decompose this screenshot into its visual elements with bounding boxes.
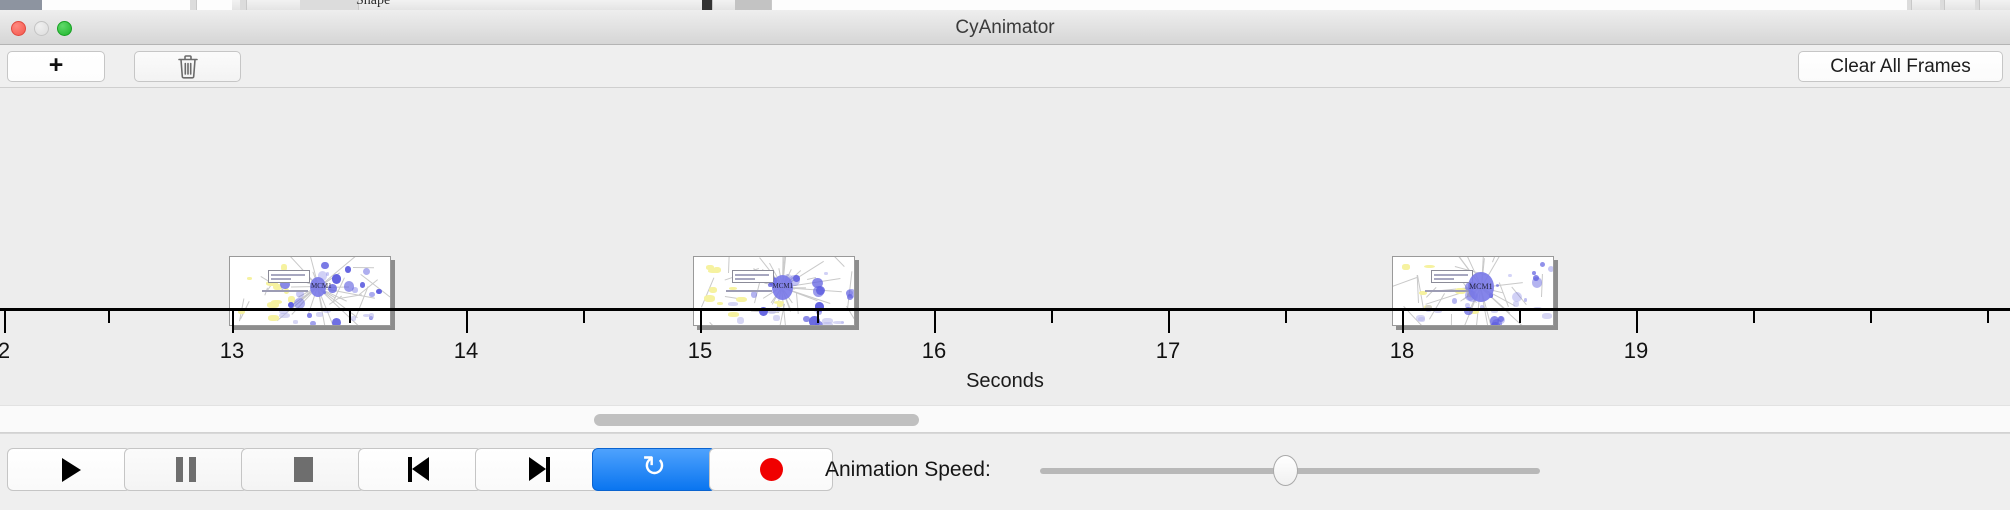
ruler-tick-minor (1870, 311, 1872, 323)
ruler-tick-label: 18 (1390, 338, 1414, 364)
frame-annotation-text (726, 290, 772, 292)
ruler-tick-minor (1051, 311, 1053, 323)
plus-icon: + (49, 53, 64, 78)
ruler-tick-label: 17 (1156, 338, 1180, 364)
network-edge (728, 256, 730, 273)
background-divider-b (240, 0, 247, 10)
timeline-scrollbar-thumb[interactable] (594, 414, 919, 426)
network-node (321, 262, 329, 270)
animation-speed-slider-knob[interactable] (1273, 455, 1298, 486)
ruler-tick-major (1402, 311, 1404, 333)
background-cell-b (735, 0, 772, 10)
network-node (360, 282, 366, 288)
frame-annotation-box (732, 270, 774, 283)
network-node (247, 277, 252, 280)
network-edge (831, 256, 844, 267)
ruler-tick-minor (817, 311, 819, 323)
ruler-tick-label: 14 (454, 338, 478, 364)
ruler-tick-major (700, 311, 702, 333)
ruler-axis-line (0, 308, 2010, 311)
network-node (352, 287, 357, 292)
network-node (704, 295, 715, 302)
frame-toolbar: + Clear All Frames (0, 45, 2010, 88)
network-node (1513, 301, 1520, 307)
ruler-axis-title: Seconds (0, 370, 2010, 393)
background-window-strip: Shape (0, 0, 2010, 10)
network-node (1496, 284, 1499, 287)
trash-icon (177, 54, 199, 79)
network-edge (1392, 277, 1417, 289)
network-node (736, 297, 746, 303)
background-marker (702, 0, 713, 10)
network-node (1548, 266, 1554, 272)
ruler-tick-minor (583, 311, 585, 323)
network-edge (1426, 287, 1437, 298)
ruler-tick-label: 2 (0, 338, 10, 364)
background-panel-b (772, 0, 1907, 10)
network-node (824, 272, 828, 276)
network-node (1452, 298, 1458, 304)
record-button[interactable] (709, 448, 833, 491)
network-node (376, 289, 381, 294)
network-node (706, 265, 714, 270)
ruler-tick-major (4, 311, 6, 333)
network-edge (701, 278, 715, 308)
network-hub-label: MCM1 (773, 282, 794, 290)
ruler-tick-label: 13 (220, 338, 244, 364)
network-node (332, 274, 341, 283)
network-node (846, 290, 853, 297)
stop-button[interactable] (241, 448, 365, 491)
network-node (345, 266, 351, 272)
network-node (709, 287, 717, 293)
network-node (1424, 265, 1435, 269)
background-divider-e (1975, 0, 1980, 10)
skip-forward-icon (525, 457, 550, 482)
background-divider-c (1907, 0, 1912, 10)
loop-icon: ↻ (642, 453, 666, 482)
delete-frame-button[interactable] (134, 51, 241, 82)
network-hub-label: MCM1 (1469, 282, 1493, 291)
frame-annotation-text (1425, 290, 1471, 292)
animation-speed-label: Animation Speed: (825, 458, 991, 482)
background-divider-a (190, 0, 197, 10)
network-edge (1541, 274, 1543, 297)
network-node (1402, 264, 1409, 270)
network-node (294, 298, 305, 309)
frame-annotation-box (268, 270, 310, 283)
ruler-tick-major (232, 311, 234, 333)
background-divider-d (1940, 0, 1945, 10)
next-frame-button[interactable] (475, 448, 599, 491)
frame-annotation-text (262, 290, 308, 292)
network-node (1524, 298, 1527, 301)
skip-back-icon (408, 457, 433, 482)
timeline-panel[interactable]: MCM1MCM1MCM1 Seconds 213141516171819 (0, 88, 2010, 405)
frame-strip[interactable]: MCM1MCM1MCM1 (0, 88, 2010, 308)
ruler-tick-label: 15 (688, 338, 712, 364)
network-node (751, 291, 757, 297)
pause-icon (176, 457, 196, 482)
timeline-scrollbar[interactable] (0, 405, 2010, 433)
title-bar: CyAnimator (0, 10, 2010, 45)
network-node (1540, 262, 1545, 267)
add-frame-button[interactable]: + (7, 51, 105, 82)
network-hub-label: MCM1 (311, 282, 332, 290)
ruler-tick-major (934, 311, 936, 333)
window-title: CyAnimator (0, 10, 2010, 45)
record-icon (760, 458, 783, 481)
network-node (713, 267, 722, 273)
previous-frame-button[interactable] (358, 448, 482, 491)
playback-bar: ↻ Animation Speed: (0, 433, 2010, 510)
cyanimator-window: Shape CyAnimator + Clear All Frames (0, 0, 2010, 510)
time-ruler: Seconds 213141516171819 (0, 308, 2010, 405)
background-toolbar-chip (0, 0, 42, 10)
ruler-tick-label: 19 (1624, 338, 1648, 364)
clear-all-frames-label: Clear All Frames (1830, 56, 1970, 78)
ruler-tick-minor (1753, 311, 1755, 323)
network-node (717, 302, 723, 305)
background-panel-a (42, 0, 232, 10)
ruler-tick-label: 16 (922, 338, 946, 364)
pause-button[interactable] (124, 448, 248, 491)
ruler-tick-minor (108, 311, 110, 323)
clear-all-frames-button[interactable]: Clear All Frames (1798, 51, 2003, 82)
background-cell-a (300, 0, 359, 10)
play-button[interactable] (7, 448, 131, 491)
loop-button[interactable]: ↻ (592, 448, 716, 491)
animation-speed-slider[interactable] (1040, 468, 1540, 474)
ruler-tick-major (1636, 311, 1638, 333)
network-node (363, 268, 370, 275)
stop-icon (294, 457, 313, 482)
ruler-tick-major (1168, 311, 1170, 333)
ruler-tick-minor (1285, 311, 1287, 323)
ruler-tick-minor (349, 311, 351, 323)
network-node (1508, 274, 1511, 277)
network-node (728, 302, 738, 306)
background-window-label: Shape (356, 0, 390, 9)
ruler-tick-major (466, 311, 468, 333)
play-icon (62, 458, 81, 482)
network-node (271, 300, 282, 304)
ruler-tick-minor (1519, 311, 1521, 323)
frame-annotation-box (1431, 270, 1473, 283)
ruler-tick-minor (1987, 311, 1989, 323)
network-node (813, 286, 824, 297)
